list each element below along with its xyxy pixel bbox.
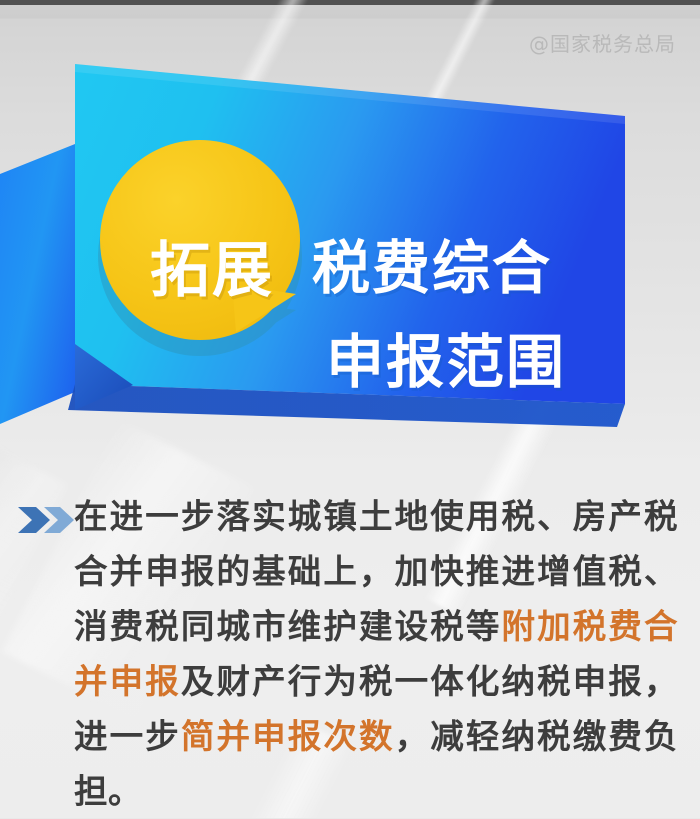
banner-left-tail	[0, 144, 75, 424]
body-paragraph: 在进一步落实城镇土地使用税、房产税合并申报的基础上，加快推进增值税、消费税同城市…	[74, 489, 678, 819]
banner-bubble-keyword: 拓展	[150, 222, 274, 309]
double-chevron-right-icon	[18, 505, 74, 535]
title-banner: 税费综合 申报范围 拓展	[0, 44, 700, 444]
banner-title-line-1: 税费综合	[312, 221, 552, 305]
banner-title-line-2: 申报范围	[326, 315, 566, 399]
body-highlight-text: 简并申报次数	[181, 717, 395, 756]
